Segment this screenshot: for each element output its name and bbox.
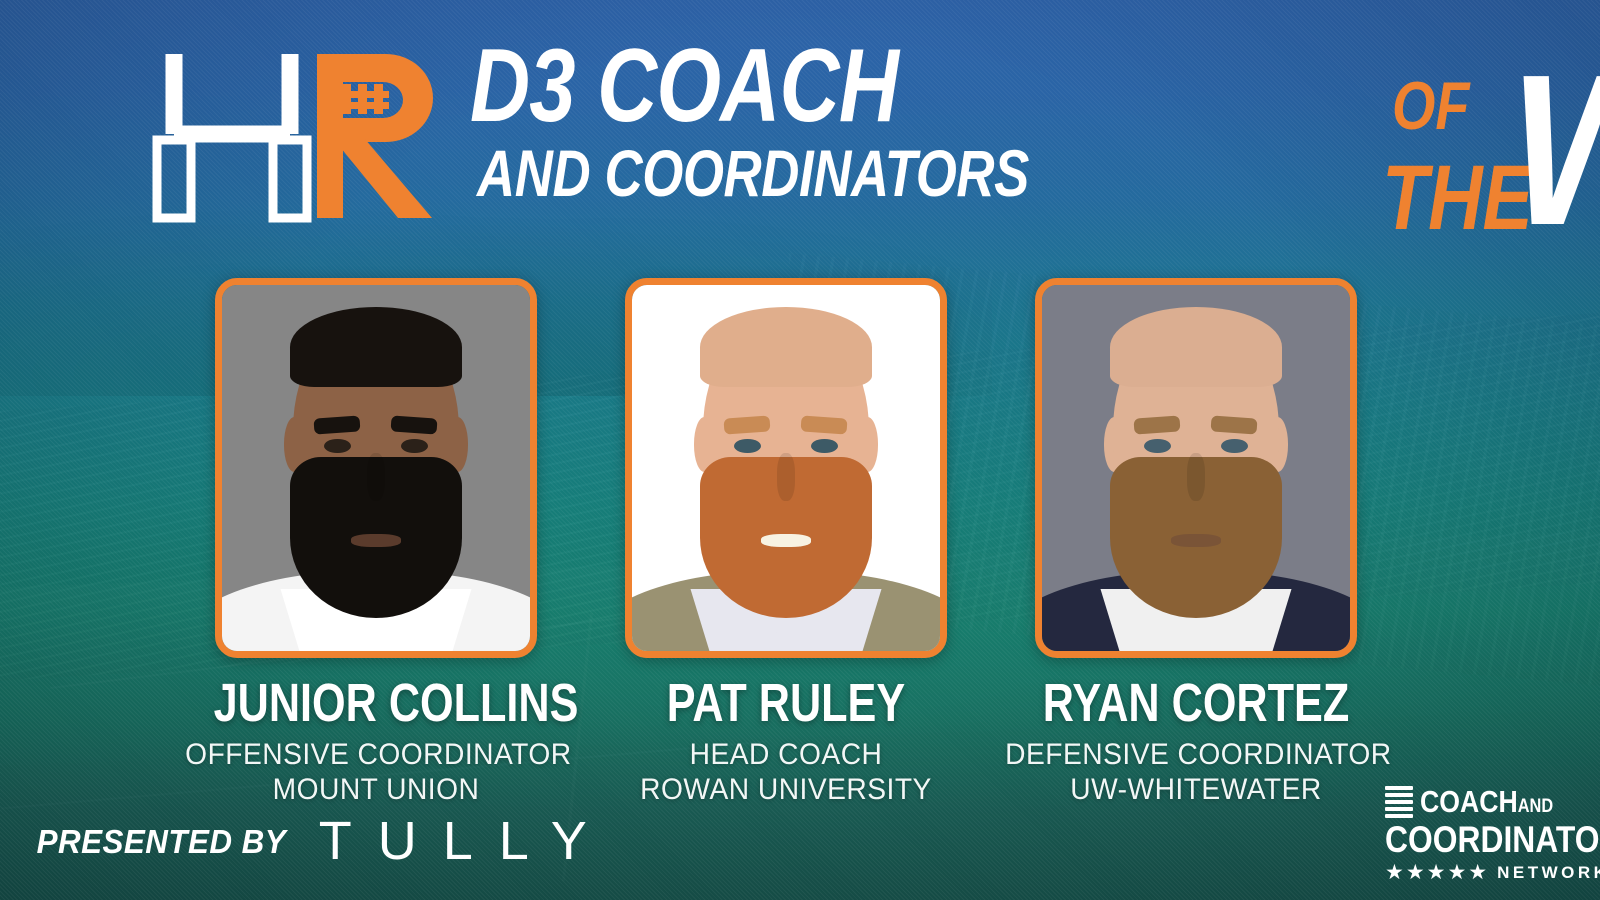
logo-and-word: AND [1518, 796, 1553, 817]
title-of: OF [1392, 72, 1469, 140]
coach-card: PAT RULEY HEAD COACH ROWAN UNIVERSITY [583, 270, 989, 808]
coach-photo [222, 285, 530, 651]
logo-bottom-row: ★★★★★ NETWORK [1385, 862, 1575, 883]
flag-bars-icon [1385, 786, 1413, 818]
logo-coordinator-text: COORDINATOR [1385, 821, 1548, 858]
presented-by-block: PRESENTED BY TULLY [30, 814, 613, 868]
logo-coach-text: COACHAND [1420, 786, 1553, 817]
logo-coach-word: COACH [1420, 784, 1518, 819]
coach-cards: JUNIOR COLLINS OFFENSIVE COORDINATOR MOU… [0, 270, 1600, 800]
title-week: WEEK [1510, 42, 1600, 257]
coach-photo-frame [625, 278, 947, 658]
title-line-2: AND COORDINATORS [477, 140, 1029, 206]
title-block: D3 COACH AND COORDINATORS OF THE WEEK [470, 34, 1470, 249]
coach-photo-frame [1035, 278, 1357, 658]
coach-card: RYAN CORTEZ DEFENSIVE COORDINATOR UW-WHI… [993, 270, 1399, 808]
coach-name: RYAN CORTEZ [1034, 676, 1359, 731]
header: D3 COACH AND COORDINATORS OF THE WEEK [0, 0, 1600, 265]
coach-photo [632, 285, 940, 651]
coach-photo-frame [215, 278, 537, 658]
logo-top-row: COACHAND [1385, 786, 1575, 818]
footer: PRESENTED BY TULLY COACHAND COORDINATOR … [0, 790, 1600, 900]
presented-by-label: PRESENTED BY [37, 825, 287, 858]
sponsor-logo-tully: TULLY [319, 814, 613, 868]
title-line-1: D3 COACH [470, 34, 898, 138]
coach-role: HEAD COACH [595, 737, 977, 772]
coach-name: JUNIOR COLLINS [214, 676, 539, 731]
logo-network-text: NETWORK [1497, 864, 1600, 881]
five-stars-icon: ★★★★★ [1385, 862, 1489, 883]
coach-role: DEFENSIVE COORDINATOR [1005, 737, 1387, 772]
coach-role: OFFENSIVE COORDINATOR [185, 737, 567, 772]
hr-goalpost-logo-icon [150, 38, 470, 228]
coach-and-coordinator-network-logo: COACHAND COORDINATOR ★★★★★ NETWORK [1385, 786, 1575, 878]
coach-name: PAT RULEY [624, 676, 949, 731]
coach-card: JUNIOR COLLINS OFFENSIVE COORDINATOR MOU… [173, 270, 579, 808]
coach-photo [1042, 285, 1350, 651]
